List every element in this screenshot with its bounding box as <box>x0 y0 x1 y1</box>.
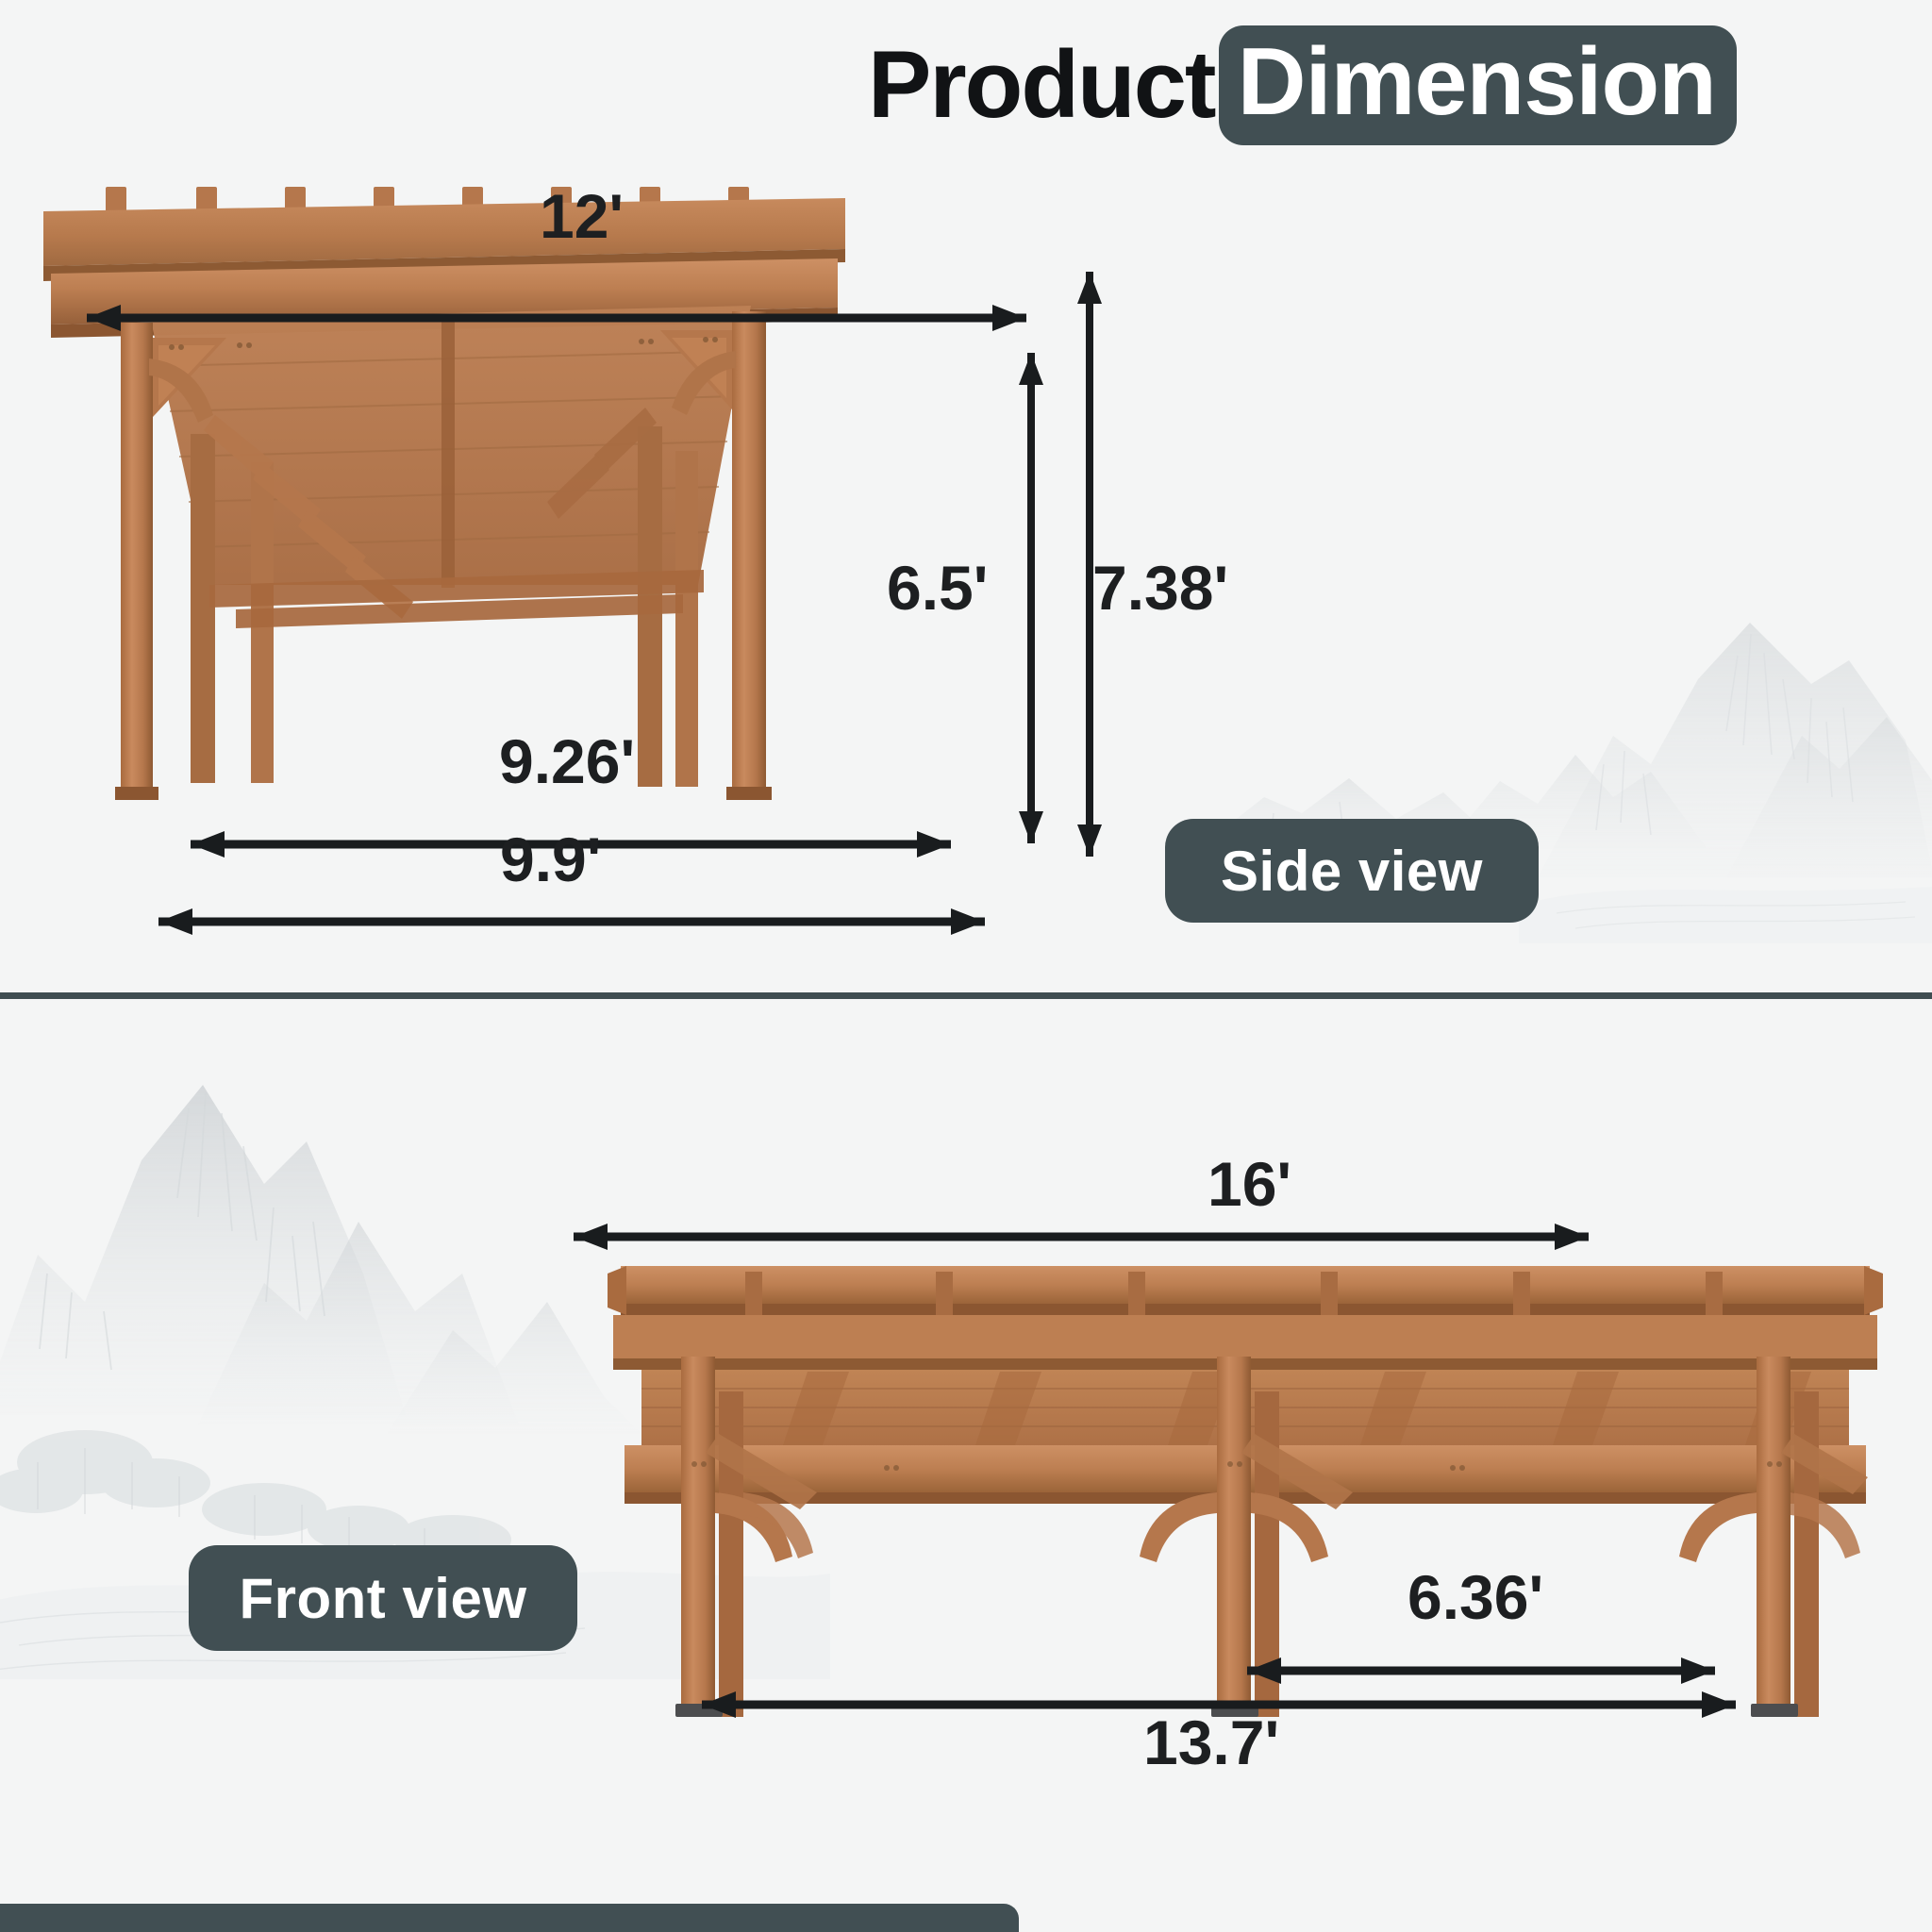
dimension-arrow-6_5ft <box>1017 334 1045 862</box>
product-dimension-page: Product Dimension <box>0 0 1932 1932</box>
section-divider <box>0 992 1932 999</box>
badge-side-view: Side view <box>1165 819 1539 923</box>
dimension-arrow-9_9ft <box>138 908 1006 936</box>
dimension-label-9_9ft: 9.9' <box>500 828 601 891</box>
dimension-label-6_36ft: 6.36' <box>1407 1566 1543 1628</box>
badge-front-view: Front view <box>189 1545 577 1651</box>
title-product-word: Product <box>868 38 1215 133</box>
dimension-label-7_38ft: 7.38' <box>1092 557 1228 619</box>
title-dimension-badge: Dimension <box>1219 25 1737 145</box>
dimension-label-16ft: 16' <box>1207 1153 1291 1215</box>
bottom-accent-bar <box>0 1904 1019 1932</box>
pergola-side-view-illustration <box>38 179 849 802</box>
dimension-label-9_26ft: 9.26' <box>499 730 635 792</box>
pergola-front-view-illustration <box>604 1245 1887 1717</box>
dimension-label-12ft: 12' <box>540 185 624 247</box>
page-title: Product Dimension <box>868 26 1737 144</box>
dimension-label-6_5ft: 6.5' <box>887 557 988 619</box>
dimension-label-13_7ft: 13.7' <box>1143 1711 1279 1774</box>
